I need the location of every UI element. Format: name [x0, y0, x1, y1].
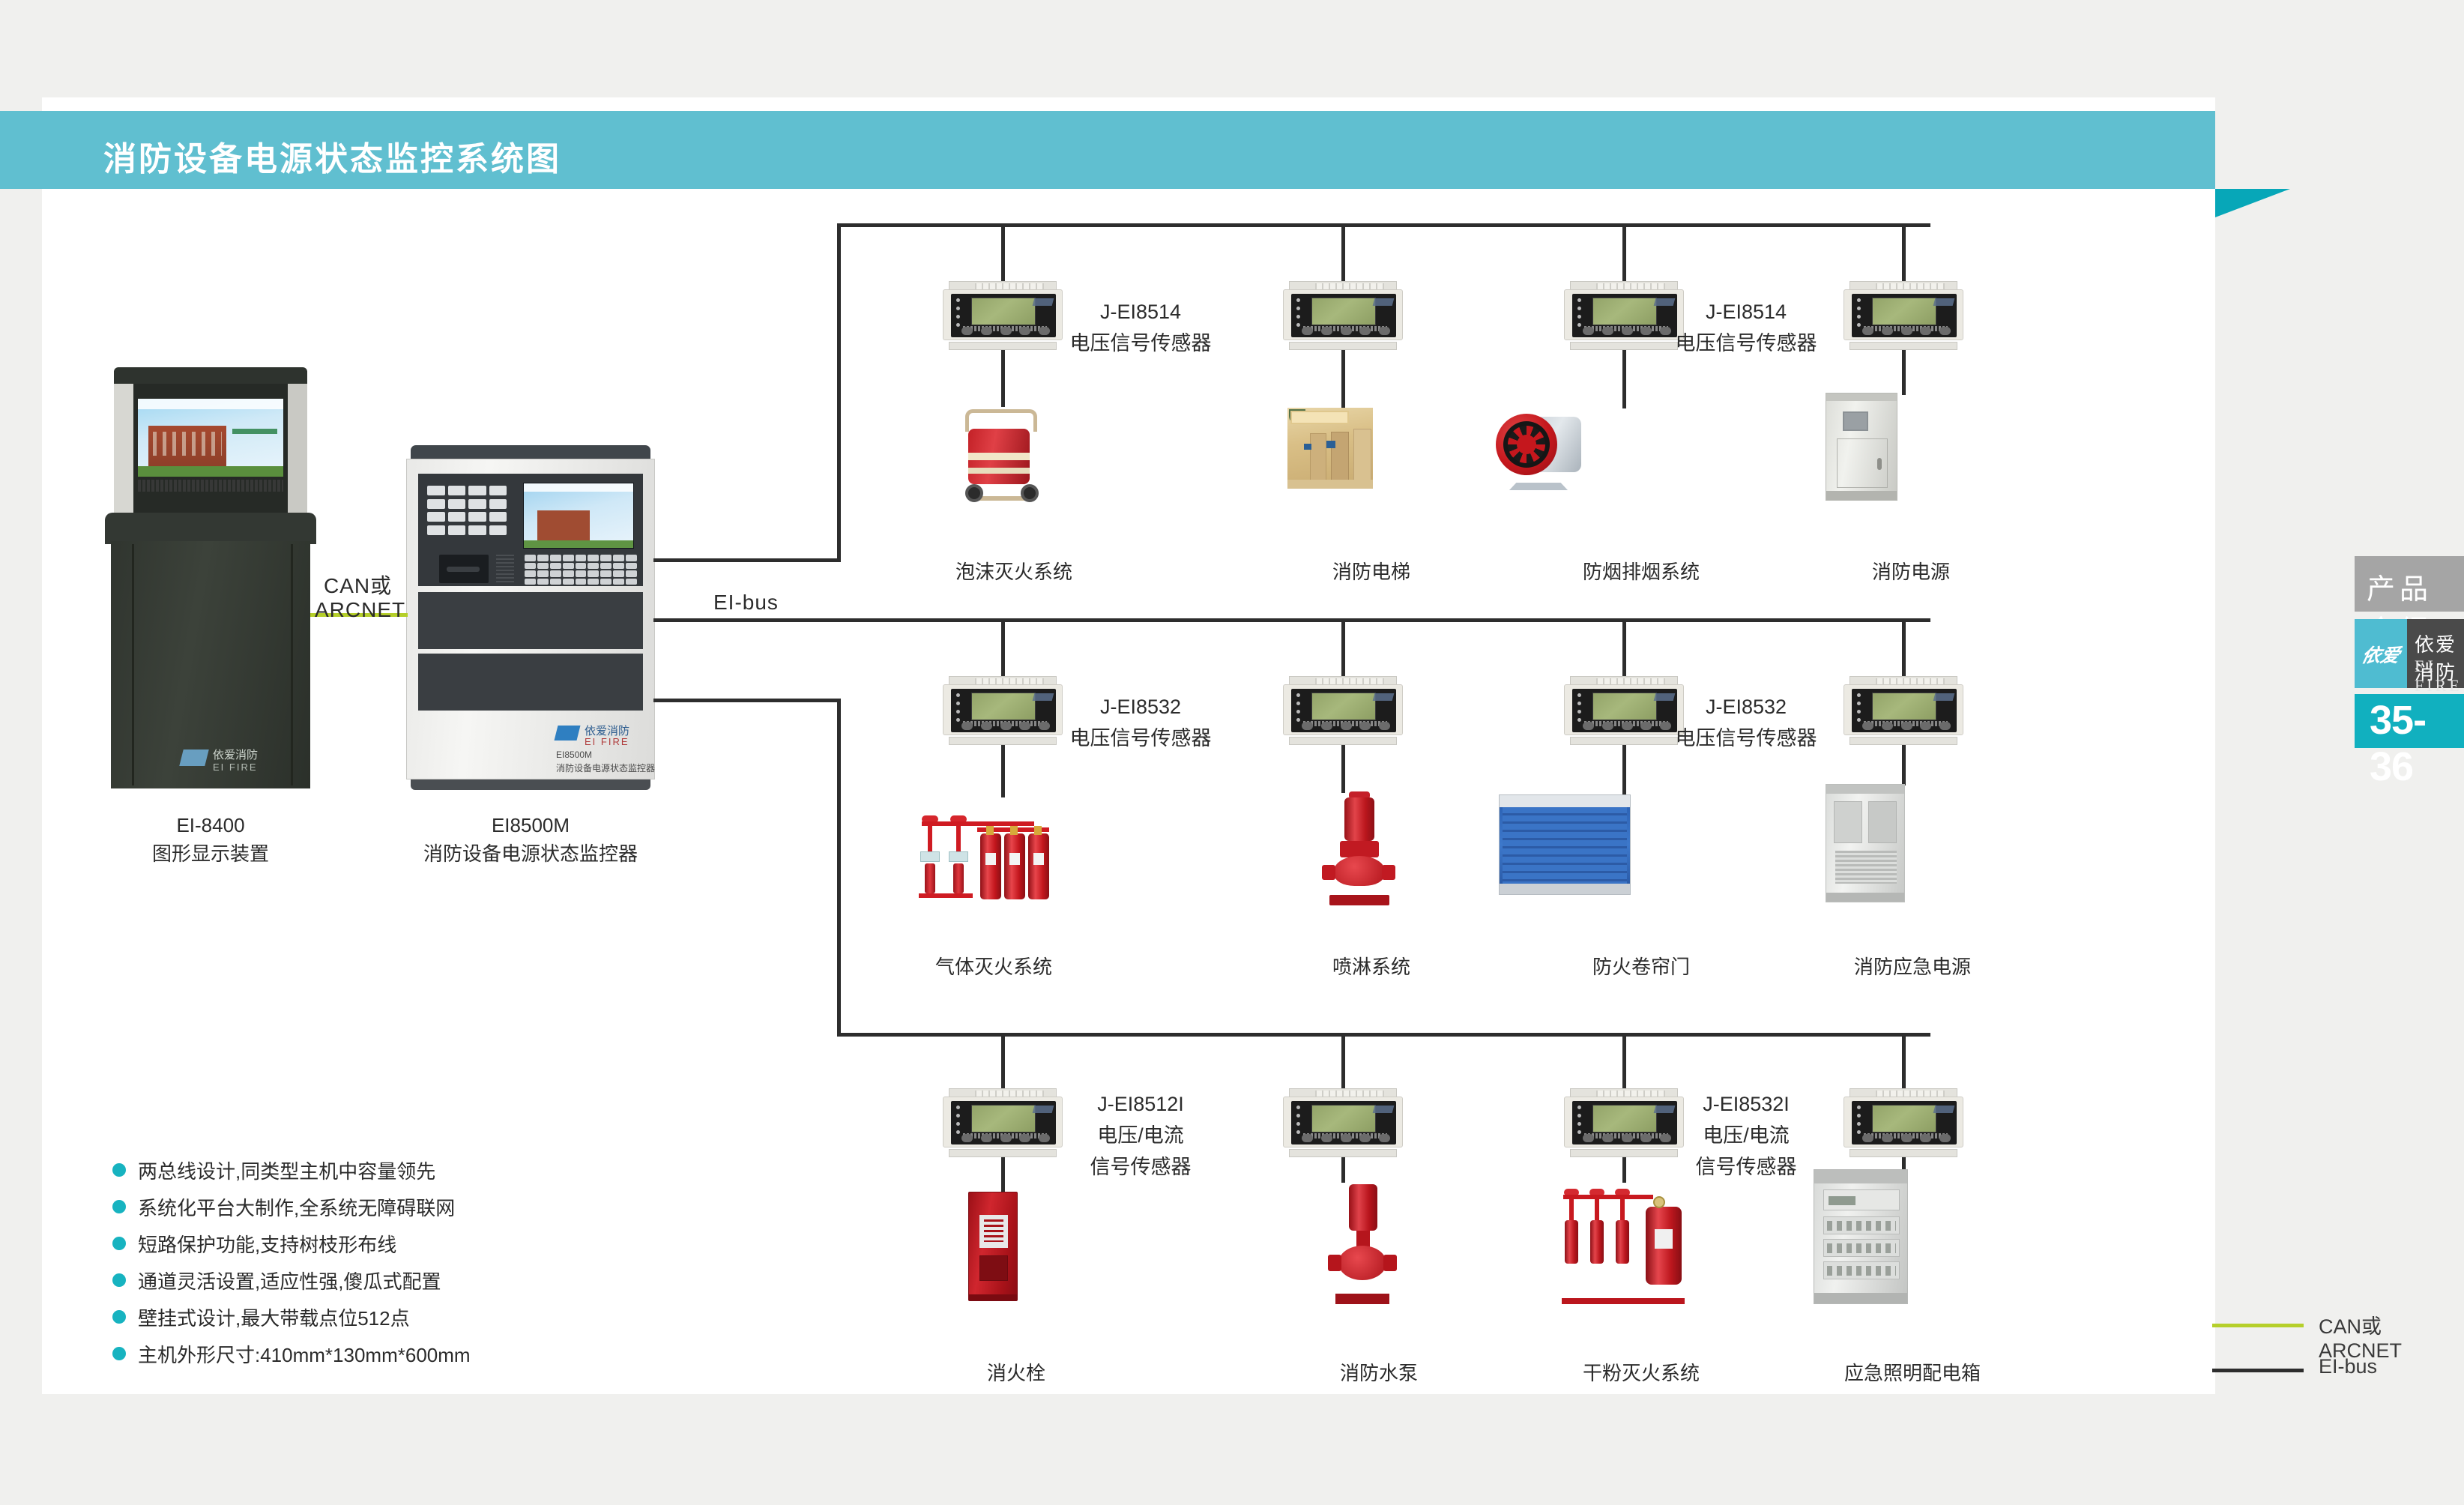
- ei8500m-silk-name: 消防设备电源状态监控器: [556, 761, 655, 774]
- wire-branch1-v: [837, 223, 841, 562]
- feature-text: 壁挂式设计,最大带载点位512点: [138, 1303, 410, 1331]
- equipment-label-r1c2: 消防电梯: [1332, 557, 1410, 585]
- ei8500m-printer-slot: [439, 555, 489, 583]
- sensor-name: 电压信号传感器: [1070, 328, 1212, 359]
- equipment-emergency-power-supply: [1826, 784, 1905, 902]
- sensor-name: 电压信号传感器: [1070, 723, 1212, 754]
- sensor-label-row2-right: J-EI8532 电压信号传感器: [1676, 691, 1817, 754]
- terminal-rail-bottom: [1289, 342, 1397, 350]
- ei8400-left-pillar: [114, 384, 133, 513]
- ei8400-label: EI-8400 图形显示装置: [152, 811, 269, 868]
- sensor-label-row2-left: J-EI8532 电压信号传感器: [1070, 691, 1212, 754]
- terminal-rail-bottom: [1289, 737, 1397, 745]
- equipment-sprinkler-pump: [1319, 791, 1398, 905]
- equipment-emergency-lighting-box: [1814, 1169, 1908, 1304]
- sensor-name-line1: 电压/电流: [1090, 1120, 1192, 1151]
- page-title: 消防设备电源状态监控系统图: [103, 132, 561, 180]
- bus-label-can: CAN或: [324, 570, 392, 600]
- module-buttons[interactable]: [1862, 722, 1951, 730]
- ei8500m-lcd-screen: [523, 483, 634, 549]
- ei8400-brand-en: EI FIRE: [213, 761, 258, 773]
- equipment-label-r2c3: 防火卷帘门: [1592, 952, 1690, 980]
- feature-text: 系统化平台大制作,全系统无障碍联网: [138, 1193, 455, 1221]
- wire-branch3-v: [837, 699, 841, 1036]
- brand-icon: [1654, 693, 1676, 701]
- wire-r2c2-drop-top: [1341, 618, 1345, 680]
- ei8400-right-pillar: [288, 384, 307, 513]
- wire-r2c1-drop-bottom: [1001, 744, 1005, 797]
- lcd-screen: [1872, 298, 1936, 325]
- ei8500m-bottom-cap: [411, 779, 650, 790]
- terminal-rail-bottom: [949, 1149, 1057, 1157]
- equipment-foam-system: [952, 403, 1057, 514]
- wire-r2c1-drop-top: [1001, 618, 1005, 680]
- sensor-module-r3c4[interactable]: [1844, 1088, 1963, 1157]
- sensor-module-r1c2[interactable]: [1283, 281, 1403, 350]
- ei8400-pedestal: [111, 541, 310, 788]
- lcd-screen: [1592, 298, 1657, 325]
- terminal-rail-bottom: [1570, 1149, 1678, 1157]
- brand-icon: [1033, 1106, 1054, 1113]
- wire-branch3-h: [653, 699, 839, 702]
- ei8500m-keypad[interactable]: [525, 555, 637, 585]
- wire-r1c2-drop-top: [1341, 223, 1345, 285]
- sensor-name-line2: 信号传感器: [1696, 1151, 1797, 1183]
- list-item: 两总线设计,同类型主机中容量领先: [112, 1154, 471, 1186]
- ei8400-screen: [138, 399, 283, 477]
- list-item: 系统化平台大制作,全系统无障碍联网: [112, 1191, 471, 1222]
- sensor-model: J-EI8514: [1676, 296, 1817, 328]
- wire-r1c3-drop-bottom: [1622, 349, 1626, 408]
- ei8500m-module-bay-lower: [418, 654, 643, 711]
- sensor-module-r2c2[interactable]: [1283, 676, 1403, 745]
- terminal-rail-bottom: [949, 342, 1057, 350]
- equipment-label-r3c3: 干粉灭火系统: [1583, 1358, 1700, 1386]
- bus-label-ei-bus: EI-bus: [713, 591, 779, 615]
- wire-branch1-h: [653, 558, 839, 562]
- sensor-label-row3-left: J-EI8512I 电压/电流 信号传感器: [1090, 1088, 1192, 1183]
- feature-list: 两总线设计,同类型主机中容量领先 系统化平台大制作,全系统无障碍联网 短路保护功…: [112, 1154, 471, 1375]
- equipment-gas-suppression-system: [916, 794, 1048, 905]
- equipment-fire-power-cabinet: [1826, 393, 1897, 501]
- wire-r1c4-drop-top: [1902, 223, 1906, 285]
- ei8500m-silk-model: EI8500M: [556, 750, 592, 760]
- page-number: 35-36: [2370, 697, 2464, 790]
- sensor-module-r3c1[interactable]: [943, 1088, 1063, 1157]
- module-buttons[interactable]: [1302, 722, 1390, 730]
- wire-r2c3-drop-bottom: [1622, 744, 1626, 796]
- feature-text: 两总线设计,同类型主机中容量领先: [138, 1156, 435, 1184]
- sensor-module-r2c4[interactable]: [1844, 676, 1963, 745]
- sensor-module-r2c1[interactable]: [943, 676, 1063, 745]
- equipment-label-r1c1: 泡沫灭火系统: [955, 557, 1072, 585]
- sensor-module-r2c3[interactable]: [1564, 676, 1684, 745]
- terminal-rail-bottom: [1289, 1149, 1397, 1157]
- wire-r3c2-drop-bottom: [1341, 1154, 1345, 1183]
- bullet-dot-icon: [112, 1310, 126, 1324]
- ei8400-seam-left: [132, 544, 134, 785]
- brand-icon: [1933, 1106, 1955, 1113]
- equipment-label-r1c3: 防烟排烟系统: [1583, 557, 1700, 585]
- module-buttons[interactable]: [1302, 327, 1390, 335]
- sensor-module-r1c3[interactable]: [1564, 281, 1684, 350]
- module-buttons[interactable]: [961, 722, 1050, 730]
- brand-icon: [1654, 298, 1676, 306]
- header-ribbon-fold: [2215, 189, 2290, 217]
- brand-icon: [1933, 298, 1955, 306]
- sensor-name: 电压信号传感器: [1676, 328, 1817, 359]
- equipment-fire-elevator: [1287, 408, 1373, 489]
- sensor-model: J-EI8512I: [1090, 1088, 1192, 1120]
- ei8400-screen-caption: [138, 480, 283, 492]
- ei8400-brand-cn: 依爱消防: [213, 747, 258, 762]
- brand-logo-icon: 依爱: [2359, 641, 2404, 669]
- wire-r1c2-drop-bottom: [1341, 349, 1345, 408]
- sensor-name-line2: 信号传感器: [1090, 1151, 1192, 1183]
- brand-icon: [1033, 298, 1054, 306]
- wire-r3c3-drop-top: [1622, 1033, 1626, 1091]
- bullet-dot-icon: [112, 1200, 126, 1213]
- terminal-rail-bottom: [1849, 342, 1957, 350]
- wire-r3c2-drop-top: [1341, 1033, 1345, 1091]
- equipment-label-r2c4: 消防应急电源: [1854, 952, 1971, 980]
- legend-swatch-can: [2212, 1324, 2304, 1327]
- sensor-model: J-EI8514: [1070, 296, 1212, 328]
- sensor-module-r3c3[interactable]: [1564, 1088, 1684, 1157]
- wire-r2c4-drop-top: [1902, 618, 1906, 680]
- terminal-rail-bottom: [1570, 342, 1678, 350]
- sensor-label-row3-right: J-EI8532I 电压/电流 信号传感器: [1696, 1088, 1797, 1183]
- list-item: 壁挂式设计,最大带载点位512点: [112, 1301, 471, 1333]
- wire-r1c4-drop-bottom: [1902, 349, 1906, 395]
- list-item: 短路保护功能,支持树枝形布线: [112, 1228, 471, 1259]
- brand-icon: [1033, 693, 1054, 701]
- terminal-rail-bottom: [1570, 737, 1678, 745]
- wire-r2c3-drop-top: [1622, 618, 1626, 680]
- sensor-label-row1-right: J-EI8514 电压信号传感器: [1676, 296, 1817, 359]
- equipment-label-r3c2: 消防水泵: [1340, 1358, 1418, 1386]
- brand-icon: [1654, 1106, 1676, 1113]
- list-item: 主机外形尺寸:410mm*130mm*600mm: [112, 1338, 471, 1369]
- terminal-rail-bottom: [1849, 1149, 1957, 1157]
- ei8500m-name: 消防设备电源状态监控器: [423, 839, 638, 868]
- ei8500m-brand-icon: [555, 726, 581, 741]
- feature-text: 短路保护功能,支持树枝形布线: [138, 1230, 396, 1258]
- bus-label-arcnet: ARCNET: [315, 598, 405, 622]
- brand-icon: [1373, 1106, 1395, 1113]
- bullet-dot-icon: [112, 1347, 126, 1360]
- sensor-module-r3c2[interactable]: [1283, 1088, 1403, 1157]
- sensor-model: J-EI8532: [1676, 691, 1817, 723]
- ei8500m-brand-en: EI FIRE: [585, 736, 629, 747]
- wire-r1c1-drop-top: [1001, 223, 1005, 285]
- lcd-screen: [1592, 1105, 1657, 1132]
- legend-swatch-eibus: [2212, 1369, 2304, 1372]
- brand-name-en: EI FIRE: [2415, 657, 2464, 696]
- module-buttons[interactable]: [1862, 1134, 1951, 1142]
- equipment-label-r2c1: 气体灭火系统: [935, 952, 1052, 980]
- equipment-fire-shutter-door: [1499, 794, 1631, 895]
- module-buttons[interactable]: [961, 1134, 1050, 1142]
- lcd-screen: [1311, 298, 1376, 325]
- wire-row2-bus: [653, 618, 1930, 622]
- sensor-module-r1c1[interactable]: [943, 281, 1063, 350]
- ei8400-pedestal-top: [105, 513, 316, 544]
- lcd-screen: [971, 1105, 1036, 1132]
- wire-r1c1-drop-bottom: [1001, 349, 1005, 407]
- wire-r3c1-drop-bottom: [1001, 1154, 1005, 1193]
- sensor-name: 电压信号传感器: [1676, 723, 1817, 754]
- terminal-rail-bottom: [949, 737, 1057, 745]
- module-buttons[interactable]: [1583, 1134, 1671, 1142]
- ei8400-brand-icon: [179, 750, 208, 766]
- bullet-dot-icon: [112, 1237, 126, 1250]
- wire-r3c1-drop-top: [1001, 1033, 1005, 1091]
- sensor-model: J-EI8532I: [1696, 1088, 1797, 1120]
- ei8400-seam-right: [291, 544, 293, 785]
- lcd-screen: [1311, 693, 1376, 720]
- wire-r2c4-drop-bottom: [1902, 744, 1906, 785]
- ei8500m-indicator-grid: [427, 486, 507, 535]
- equipment-label-r3c1: 消火栓: [987, 1358, 1045, 1386]
- sensor-label-row1-left: J-EI8514 电压信号传感器: [1070, 296, 1212, 359]
- sensor-module-r1c4[interactable]: [1844, 281, 1963, 350]
- ei8400-model: EI-8400: [152, 811, 269, 839]
- module-buttons[interactable]: [1583, 722, 1671, 730]
- sensor-name-line1: 电压/电流: [1696, 1120, 1797, 1151]
- module-buttons[interactable]: [1302, 1134, 1390, 1142]
- ei8500m-label: EI8500M 消防设备电源状态监控器: [423, 811, 638, 868]
- wire-r1c3-drop-top: [1622, 223, 1626, 285]
- bullet-dot-icon: [112, 1273, 126, 1287]
- feature-text: 主机外形尺寸:410mm*130mm*600mm: [138, 1340, 471, 1368]
- wire-r3c4-drop-top: [1902, 1033, 1906, 1091]
- equipment-smoke-exhaust-fan: [1491, 406, 1587, 490]
- equipment-label-r1c4: 消防电源: [1872, 557, 1950, 585]
- equipment-fire-hydrant: [968, 1192, 1018, 1301]
- equipment-dry-powder-system: [1559, 1177, 1689, 1304]
- sensor-model: J-EI8532: [1070, 691, 1212, 723]
- lcd-screen: [1872, 1105, 1936, 1132]
- equipment-fire-water-pump: [1328, 1180, 1397, 1304]
- lcd-screen: [1311, 1105, 1376, 1132]
- lcd-screen: [971, 298, 1036, 325]
- legend-label-eibus: EI-bus: [2319, 1355, 2377, 1378]
- ei8500m-speaker-grille: [496, 555, 514, 583]
- list-item: 通道灵活设置,适应性强,傻瓜式配置: [112, 1264, 471, 1296]
- terminal-rail-bottom: [1849, 737, 1957, 745]
- wire-r2c2-drop-bottom: [1341, 744, 1345, 793]
- lcd-screen: [1872, 693, 1936, 720]
- bullet-dot-icon: [112, 1163, 126, 1177]
- equipment-label-r2c2: 喷淋系统: [1332, 952, 1410, 980]
- lcd-screen: [971, 693, 1036, 720]
- module-buttons[interactable]: [961, 327, 1050, 335]
- brand-icon: [1933, 693, 1955, 701]
- ei8500m-module-bay-upper: [418, 592, 643, 649]
- ei8400-name: 图形显示装置: [152, 839, 269, 868]
- module-buttons[interactable]: [1583, 327, 1671, 335]
- feature-text: 通道灵活设置,适应性强,傻瓜式配置: [138, 1267, 441, 1294]
- equipment-label-r3c4: 应急照明配电箱: [1844, 1358, 1981, 1386]
- module-buttons[interactable]: [1862, 327, 1951, 335]
- brand-icon: [1373, 693, 1395, 701]
- ei8500m-model: EI8500M: [423, 811, 638, 839]
- lcd-screen: [1592, 693, 1657, 720]
- brand-icon: [1373, 298, 1395, 306]
